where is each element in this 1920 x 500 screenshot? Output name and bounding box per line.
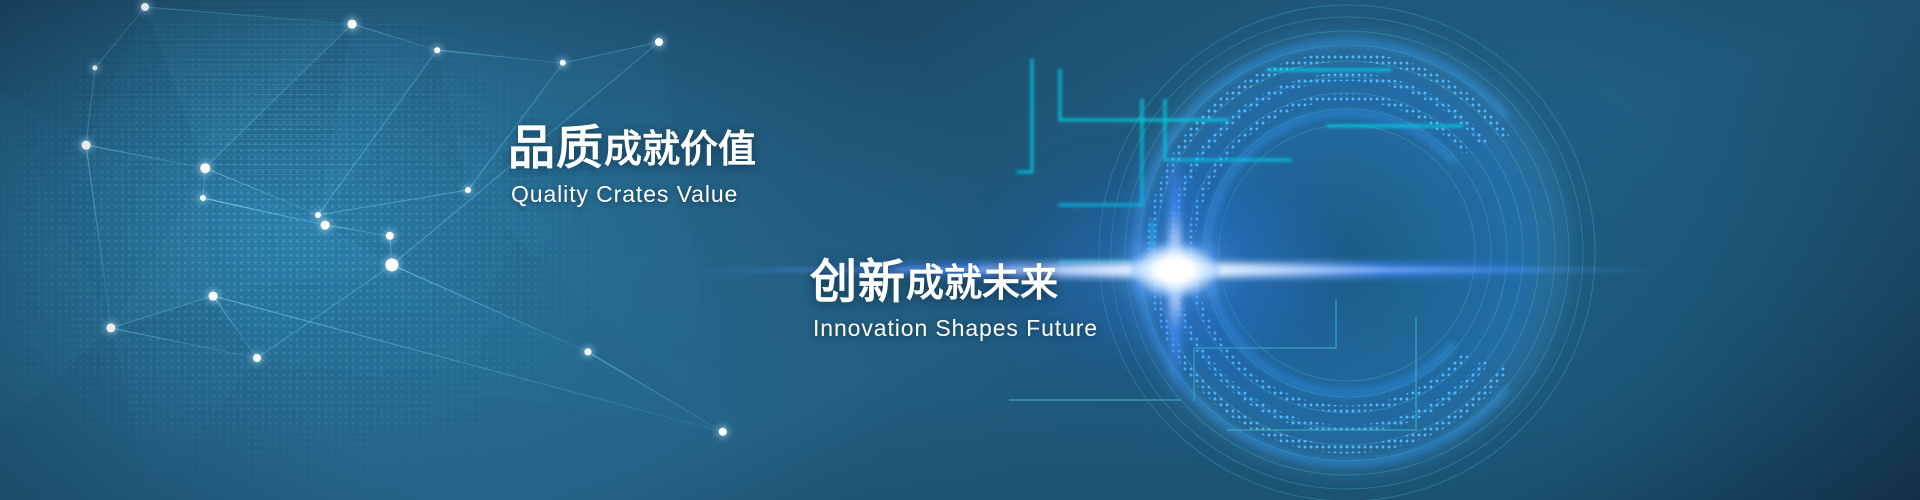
headline-cn-soft-quality: 成就价值 xyxy=(604,129,756,171)
headline-english-innovation: Innovation Shapes Future xyxy=(813,315,1098,342)
headline-block-quality: 品质成就价值 Quality Crates Value xyxy=(508,124,756,208)
headline-cn-strong-innovation: 创新 xyxy=(810,255,906,308)
concentric-tech-ring xyxy=(0,0,1920,500)
circuit-trace xyxy=(1018,60,1032,172)
hero-banner: 品质成就价值 Quality Crates Value 创新成就未来 Innov… xyxy=(0,0,1920,500)
headline-chinese-innovation: 创新成就未来 xyxy=(810,258,1098,305)
headline-chinese-quality: 品质成就价值 xyxy=(508,124,756,171)
headline-cn-strong-quality: 品质 xyxy=(508,121,604,174)
headline-english-quality: Quality Crates Value xyxy=(511,181,756,208)
headline-block-innovation: 创新成就未来 Innovation Shapes Future xyxy=(810,258,1098,342)
headline-cn-soft-innovation: 成就未来 xyxy=(906,263,1058,305)
